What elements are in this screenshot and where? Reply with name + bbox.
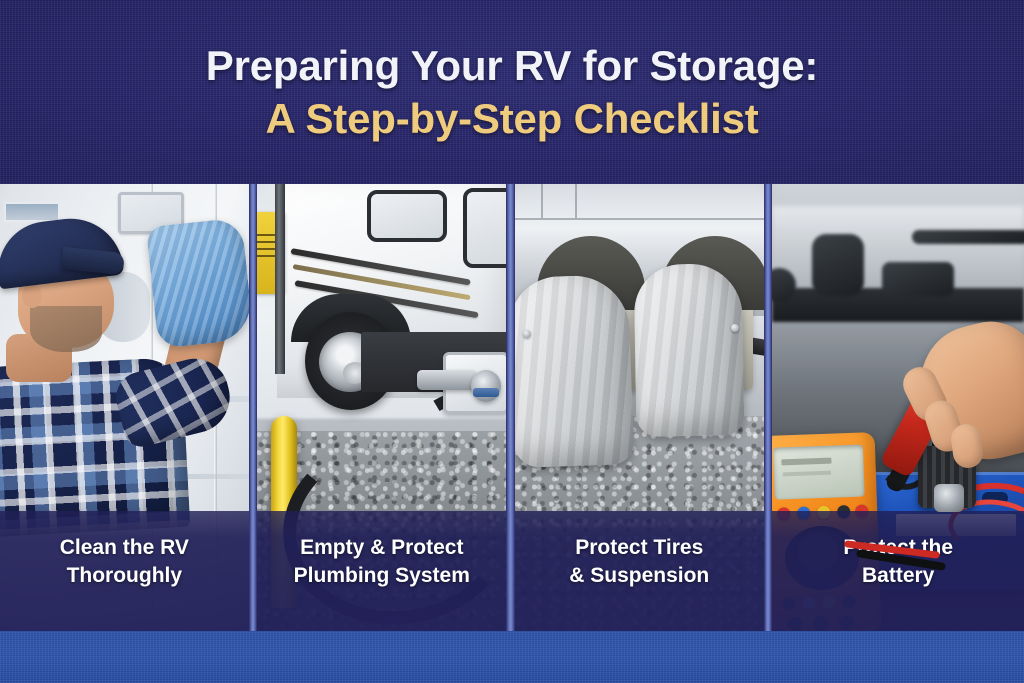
panel-divider-2 <box>506 184 515 631</box>
tire-cover-rear <box>633 263 744 437</box>
caption-line-1: Protect Tires <box>569 534 709 562</box>
caption-plumbing: Empty & Protect Plumbing System <box>257 511 506 631</box>
panel-strip: Clean the RV Thoroughly <box>0 184 1024 631</box>
page-title: Preparing Your RV for Storage: <box>206 42 818 89</box>
caption-line-2: Plumbing System <box>294 562 470 590</box>
microfiber-cloth <box>146 217 249 348</box>
caption-line-2: & Suspension <box>569 562 709 590</box>
caption-line-2: Thoroughly <box>60 562 189 590</box>
infographic-root: Preparing Your RV for Storage: A Step-by… <box>0 0 1024 683</box>
panel-divider-3 <box>764 184 773 631</box>
panel-clean-rv[interactable]: Clean the RV Thoroughly <box>0 184 249 631</box>
panel-battery[interactable]: Protect the Battery <box>772 184 1024 631</box>
footer-band <box>0 631 1024 683</box>
caption-clean-rv: Clean the RV Thoroughly <box>0 511 249 631</box>
caption-line-1: Empty & Protect <box>294 534 470 562</box>
page-subtitle: A Step-by-Step Checklist <box>265 95 758 142</box>
footer-texture <box>0 631 1024 683</box>
panel-plumbing[interactable]: Empty & Protect Plumbing System <box>257 184 506 631</box>
panel-tires[interactable]: Protect Tires & Suspension <box>515 184 764 631</box>
panel-divider-1 <box>249 184 258 631</box>
caption-battery: Protect the Battery <box>772 511 1024 631</box>
caption-line-1: Clean the RV <box>60 534 189 562</box>
caption-tires: Protect Tires & Suspension <box>515 511 764 631</box>
tire-cover-front <box>515 274 634 468</box>
header-banner: Preparing Your RV for Storage: A Step-by… <box>0 0 1024 184</box>
